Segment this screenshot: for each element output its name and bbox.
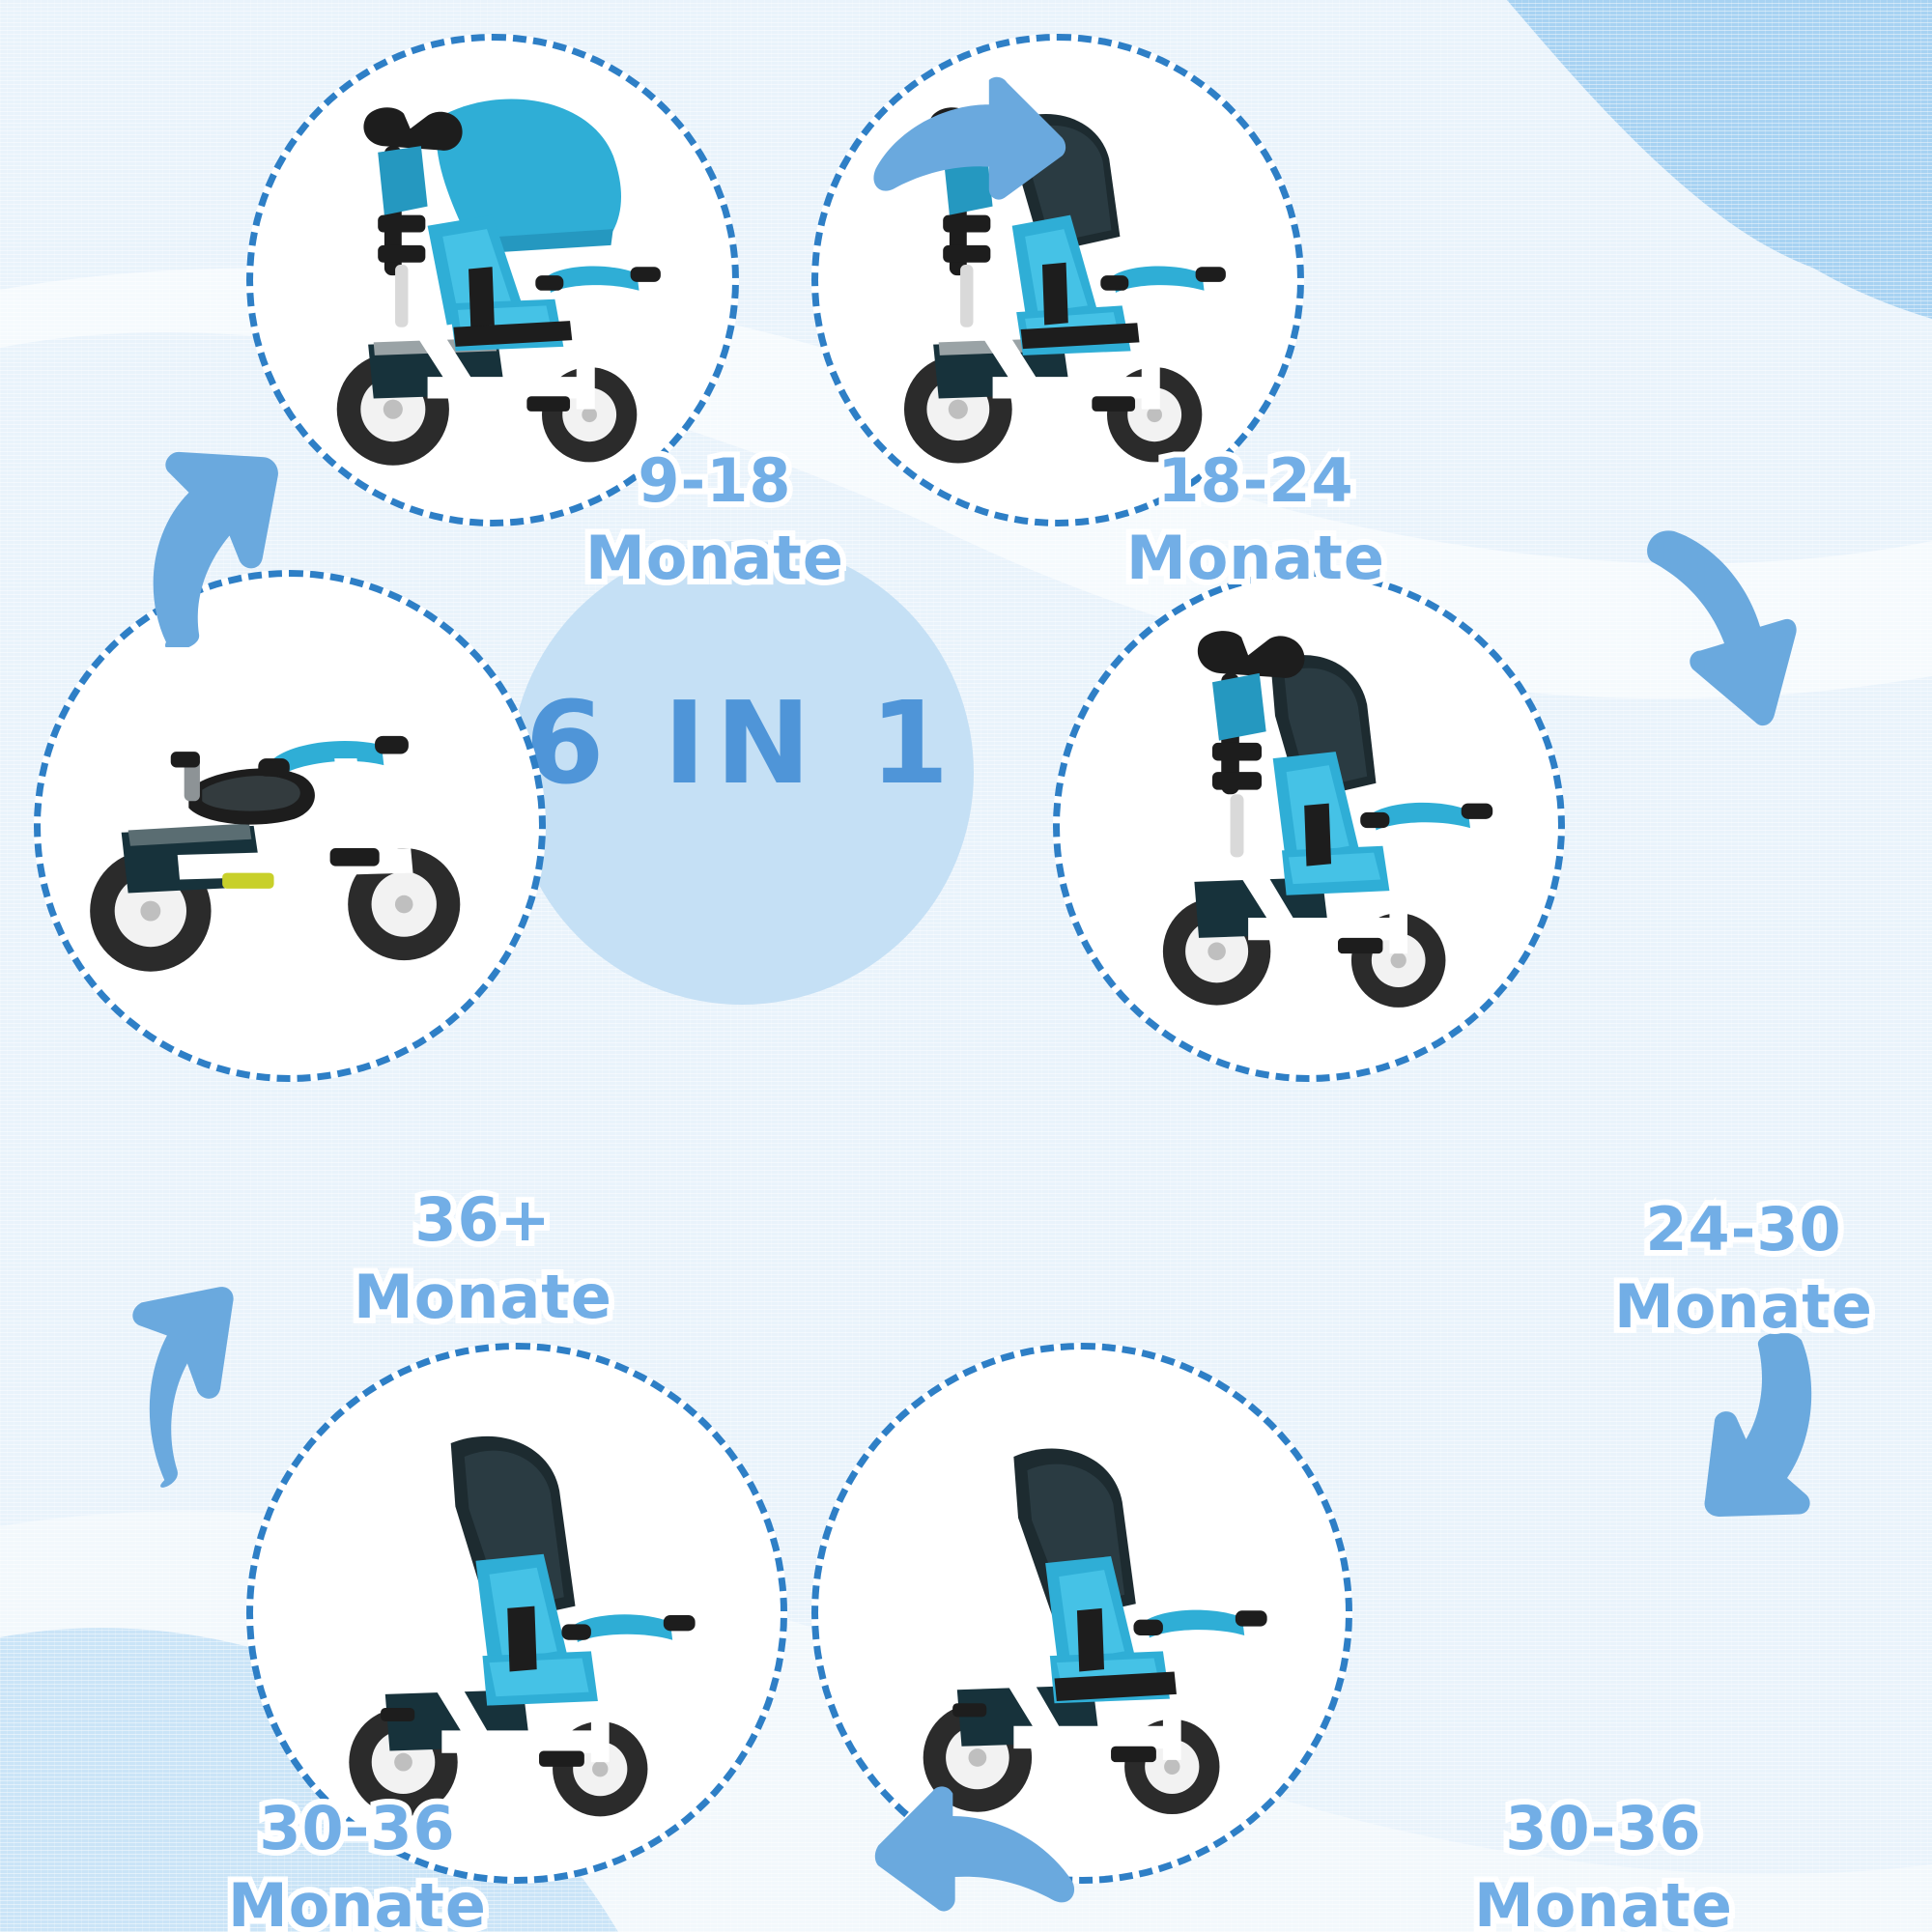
age-label-5-line1: 30-36 [155,1798,560,1859]
arrow-bottom-left-icon [855,1782,1087,1918]
age-label-1-line1: 9-18 [580,450,850,511]
age-label-6-line2: Monate [319,1266,647,1327]
arrow-top-right-icon [865,72,1087,208]
age-label-3: 24-30 Monate [1584,1183,1903,1352]
age-label-6-line1: 36+ [319,1189,647,1250]
age-label-4-line2: Monate [1391,1875,1816,1932]
arrow-left-up-right-icon [111,444,295,647]
age-label-1-line2: Monate [580,527,850,588]
product-photo-6 [54,590,526,1062]
age-label-1: 9-18 Monate [580,435,850,604]
product-photo-3 [1073,590,1545,1062]
stage-circle-3[interactable] [1053,570,1565,1082]
age-label-5-line2: Monate [155,1875,560,1932]
age-label-2-line2: Monate [1111,527,1401,588]
age-label-3-line2: Monate [1584,1276,1903,1337]
center-badge-text: 6 IN 1 [510,686,974,800]
age-label-6: 36+ Monate [319,1174,647,1343]
arrow-left-up-icon [72,1285,246,1488]
arrow-right-down-icon [1628,526,1821,729]
age-label-4-line1: 30-36 [1391,1798,1816,1859]
age-label-2: 18-24 Monate [1111,435,1401,604]
arrow-right-down-left-icon [1681,1333,1845,1526]
age-label-5: 30-36 Monate [155,1782,560,1932]
age-label-4: 30-36 Monate [1391,1782,1816,1932]
age-label-2-line1: 18-24 [1111,450,1401,511]
age-label-3-line1: 24-30 [1584,1199,1903,1260]
